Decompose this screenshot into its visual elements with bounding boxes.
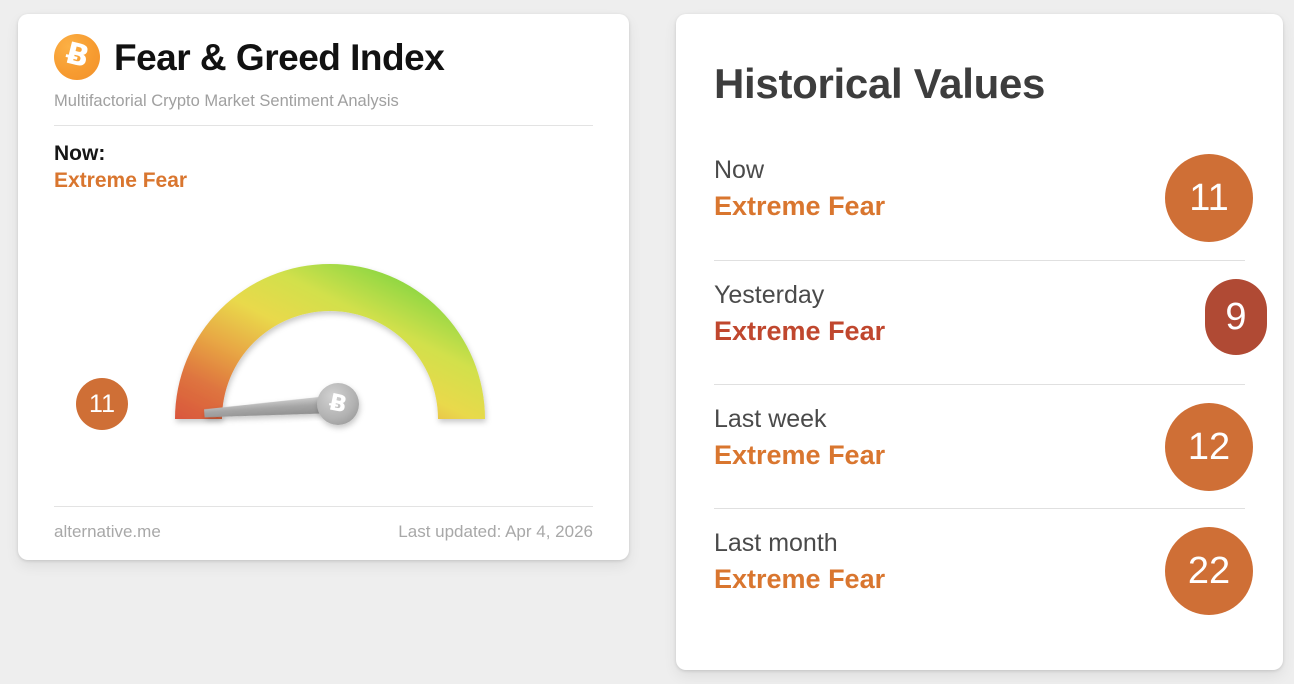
history-period-label: Last week xyxy=(714,403,1245,437)
source-link[interactable]: alternative.me xyxy=(54,522,161,542)
page-root: Ƀ Fear & Greed Index Multifactorial Cryp… xyxy=(0,0,1294,684)
now-label: Now: xyxy=(54,142,611,167)
bitcoin-icon: Ƀ xyxy=(54,34,100,80)
history-row: NowExtreme Fear11 xyxy=(714,136,1245,260)
card-subtitle: Multifactorial Crypto Market Sentiment A… xyxy=(54,92,611,111)
history-value-badge: 9 xyxy=(1205,279,1267,355)
history-row-text: Last weekExtreme Fear xyxy=(714,385,1245,475)
history-row: YesterdayExtreme Fear9 xyxy=(714,260,1245,384)
history-value-badge: 12 xyxy=(1165,403,1253,491)
history-value: 22 xyxy=(1188,552,1230,590)
history-period-label: Last month xyxy=(714,527,1245,561)
now-classification: Extreme Fear xyxy=(54,167,611,195)
history-classification: Extreme Fear xyxy=(714,313,1245,351)
history-value: 12 xyxy=(1188,428,1230,466)
card-footer: alternative.me Last updated: Apr 4, 2026 xyxy=(54,522,593,542)
history-row-text: Last monthExtreme Fear xyxy=(714,509,1245,599)
historical-values-title: Historical Values xyxy=(714,60,1283,108)
history-period-label: Now xyxy=(714,154,1245,188)
history-value: 11 xyxy=(1189,179,1228,217)
now-block: Now: Extreme Fear xyxy=(54,142,611,195)
gauge-hub: Ƀ xyxy=(317,383,359,425)
fear-greed-gauge-card: Ƀ Fear & Greed Index Multifactorial Cryp… xyxy=(18,14,629,560)
footer-divider xyxy=(54,506,593,507)
history-row: Last weekExtreme Fear12 xyxy=(714,384,1245,508)
gauge: Ƀ 11 xyxy=(36,204,611,494)
header-divider xyxy=(54,125,593,126)
historical-values-card: Historical Values NowExtreme Fear11Yeste… xyxy=(676,14,1283,670)
history-row: Last monthExtreme Fear22 xyxy=(714,508,1245,632)
gauge-arc: Ƀ xyxy=(120,204,540,494)
historical-values-list: NowExtreme Fear11YesterdayExtreme Fear9L… xyxy=(714,136,1245,632)
history-value-badge: 11 xyxy=(1165,154,1253,242)
history-row-text: NowExtreme Fear xyxy=(714,136,1245,226)
bitcoin-glyph: Ƀ xyxy=(62,39,91,74)
history-value-badge: 22 xyxy=(1165,527,1253,615)
card-header: Ƀ Fear & Greed Index xyxy=(36,14,611,80)
last-updated: Last updated: Apr 4, 2026 xyxy=(398,522,593,542)
history-period-label: Yesterday xyxy=(714,279,1245,313)
page-title: Fear & Greed Index xyxy=(114,39,444,76)
history-value: 9 xyxy=(1225,298,1246,336)
history-row-text: YesterdayExtreme Fear xyxy=(714,261,1245,351)
gauge-value: 11 xyxy=(89,392,115,417)
gauge-value-badge: 11 xyxy=(76,378,128,430)
